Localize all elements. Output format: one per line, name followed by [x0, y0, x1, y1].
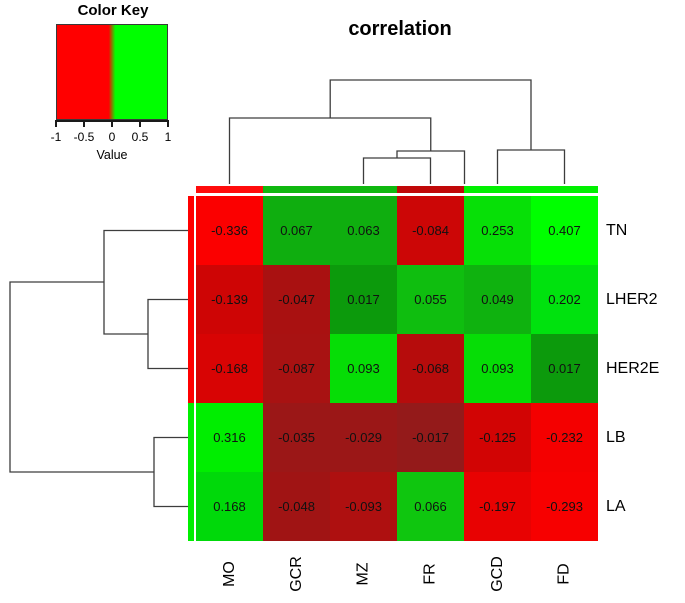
color-key-tick	[111, 120, 113, 127]
column-label-mo: MO	[196, 541, 263, 603]
color-key-tick	[55, 120, 57, 127]
heatmap-cell: -0.084	[397, 196, 464, 265]
column-labels: MOGCRMZFRGCDFD	[196, 541, 598, 603]
row-label-tn: TN	[606, 196, 627, 265]
dendro-link-lb-la	[154, 438, 188, 507]
heatmap-cell: 0.017	[330, 265, 397, 334]
heatmap-cell: 0.316	[196, 403, 263, 472]
color-key-title: Color Key	[28, 2, 198, 19]
column-sidebar-segment	[531, 186, 598, 193]
row-dendrogram-svg	[6, 196, 188, 541]
color-key-tick-label: -1	[51, 130, 62, 144]
column-label-text: GCR	[288, 556, 306, 592]
column-label-fr: FR	[397, 541, 464, 603]
row-label-la: LA	[606, 472, 626, 541]
column-label-text: MO	[221, 561, 239, 587]
column-dendrogram-svg	[196, 62, 598, 184]
color-key-tick	[139, 120, 141, 127]
heatmap-cell: 0.067	[263, 196, 330, 265]
heatmap-cell: 0.055	[397, 265, 464, 334]
heatmap-cell: -0.068	[397, 334, 464, 403]
color-key-tick-label: 1	[165, 130, 172, 144]
heatmap-cell: -0.047	[263, 265, 330, 334]
color-key-tick-labels: -1-0.500.51	[38, 130, 186, 146]
heatmap-cell: -0.017	[397, 403, 464, 472]
heatmap-cell: 0.063	[330, 196, 397, 265]
column-dendrogram	[196, 62, 598, 184]
page-title: correlation	[200, 18, 600, 41]
row-label-her2e: HER2E	[606, 334, 659, 403]
dendro-link-row-root	[10, 282, 154, 472]
heatmap-cell: -0.168	[196, 334, 263, 403]
color-key-tick-label: -0.5	[74, 130, 95, 144]
heatmap-cell: 0.093	[330, 334, 397, 403]
column-sidebar-segment	[397, 186, 464, 193]
heatmap-cell: -0.336	[196, 196, 263, 265]
heatmap-cell: 0.253	[464, 196, 531, 265]
heatmap-cell: 0.168	[196, 472, 263, 541]
column-sidebar	[196, 186, 598, 193]
heatmap-cell: -0.093	[330, 472, 397, 541]
heatmap-cell: -0.048	[263, 472, 330, 541]
heatmap-cell: -0.125	[464, 403, 531, 472]
column-label-gcd: GCD	[464, 541, 531, 603]
heatmap-cell: 0.066	[397, 472, 464, 541]
row-sidebar-segment	[188, 403, 194, 472]
column-label-mz: MZ	[330, 541, 397, 603]
dendro-link-tn-cluster	[104, 231, 188, 335]
column-label-fd: FD	[531, 541, 598, 603]
column-label-text: MZ	[354, 562, 372, 585]
dendro-link-lher2-her2e	[148, 300, 188, 369]
heatmap-cell: -0.087	[263, 334, 330, 403]
column-label-text: FD	[555, 563, 573, 584]
color-key-axis	[56, 120, 168, 128]
dendro-link-mz-fr	[364, 158, 431, 184]
color-key-tick-label: 0	[109, 130, 116, 144]
heatmap-figure: Color Key -1-0.500.51 Value correlation	[0, 0, 685, 603]
column-label-text: GCD	[489, 556, 507, 592]
heatmap-cell: -0.035	[263, 403, 330, 472]
row-dendrogram	[6, 196, 188, 541]
column-sidebar-segment	[464, 186, 531, 193]
color-key-tick	[83, 120, 85, 127]
dendro-link-gcd-fd	[498, 150, 565, 184]
heatmap-cell: 0.049	[464, 265, 531, 334]
row-sidebar-segment	[188, 196, 194, 265]
color-key-tick-label: 0.5	[132, 130, 149, 144]
heatmap-cell: -0.197	[464, 472, 531, 541]
heatmap-cell: -0.029	[330, 403, 397, 472]
heatmap-cell: -0.139	[196, 265, 263, 334]
column-sidebar-segment	[263, 186, 330, 193]
heatmap-cell: 0.202	[531, 265, 598, 334]
heatmap-cell: -0.293	[531, 472, 598, 541]
row-label-lb: LB	[606, 403, 626, 472]
color-key-gradient-bar	[56, 24, 168, 120]
column-sidebar-segment	[330, 186, 397, 193]
heatmap-cell: 0.093	[464, 334, 531, 403]
color-key: Color Key -1-0.500.51 Value	[28, 2, 198, 172]
row-labels: TNLHER2HER2ELBLA	[606, 196, 685, 541]
column-label-text: FR	[421, 563, 439, 584]
color-key-gradient	[57, 25, 167, 119]
color-key-axis-label: Value	[56, 148, 168, 162]
heatmap-cell: -0.232	[531, 403, 598, 472]
row-sidebar-segment	[188, 334, 194, 403]
column-label-gcr: GCR	[263, 541, 330, 603]
row-sidebar-segment	[188, 472, 194, 541]
heatmap-grid: -0.3360.0670.063-0.0840.2530.407-0.139-0…	[196, 196, 598, 541]
row-sidebar-segment	[188, 265, 194, 334]
row-sidebar	[188, 196, 194, 541]
heatmap-cell: 0.017	[531, 334, 598, 403]
heatmap-cell: 0.407	[531, 196, 598, 265]
color-key-tick	[167, 120, 169, 127]
row-label-lher2: LHER2	[606, 265, 658, 334]
column-sidebar-segment	[196, 186, 263, 193]
